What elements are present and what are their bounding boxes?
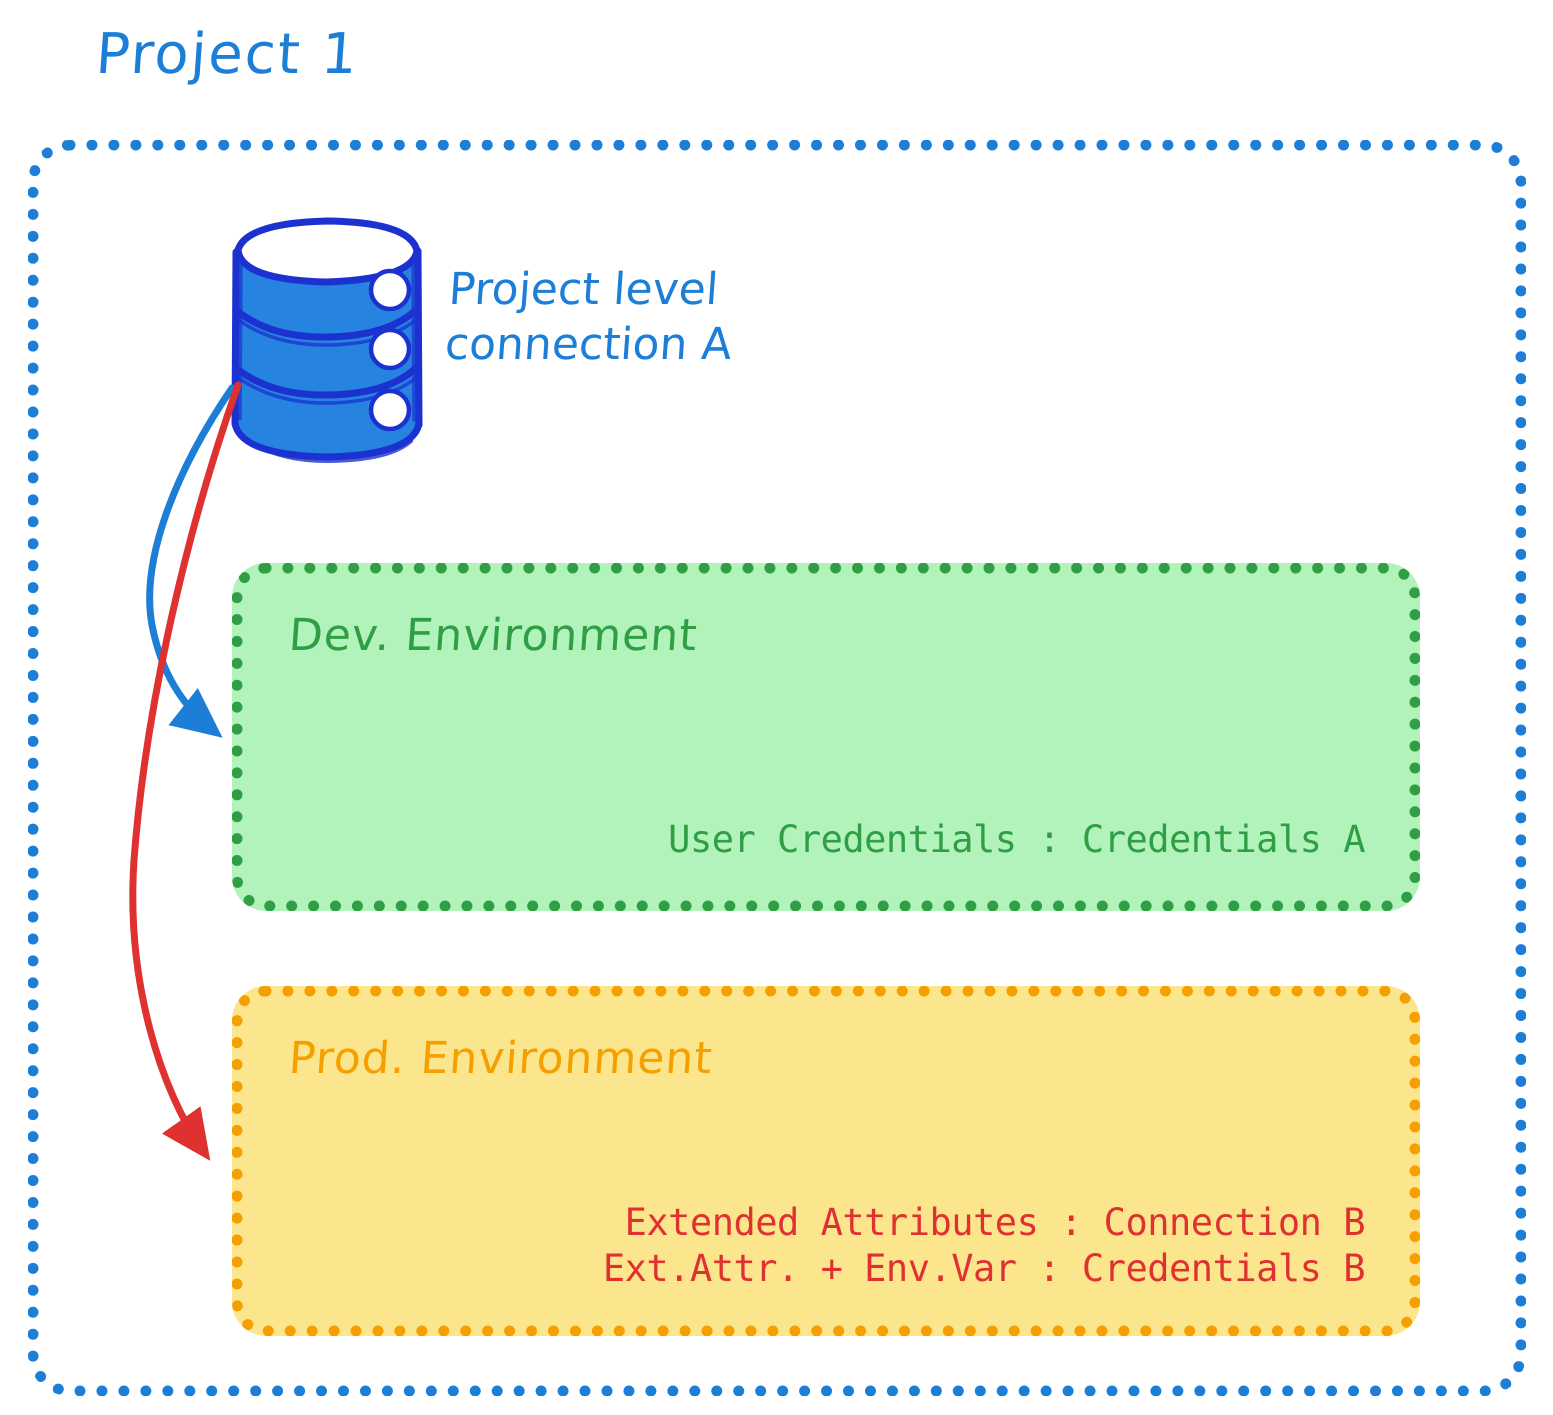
database-label: Project level connection A	[443, 262, 737, 372]
dev-environment-credentials-text: User Credentials : Credentials A	[668, 817, 1365, 863]
prod-environment-box: Prod. Environment Extended Attributes : …	[232, 986, 1420, 1336]
prod-environment-attributes-text: Extended Attributes : Connection B Ext.A…	[603, 1200, 1365, 1291]
project-title: Project 1	[94, 22, 362, 87]
diagram-canvas: Project 1 Dev. Environment User Credenti…	[0, 0, 1553, 1415]
dev-environment-title: Dev. Environment	[287, 610, 699, 661]
dev-environment-box: Dev. Environment User Credentials : Cred…	[232, 563, 1420, 911]
prod-environment-title: Prod. Environment	[287, 1033, 714, 1084]
